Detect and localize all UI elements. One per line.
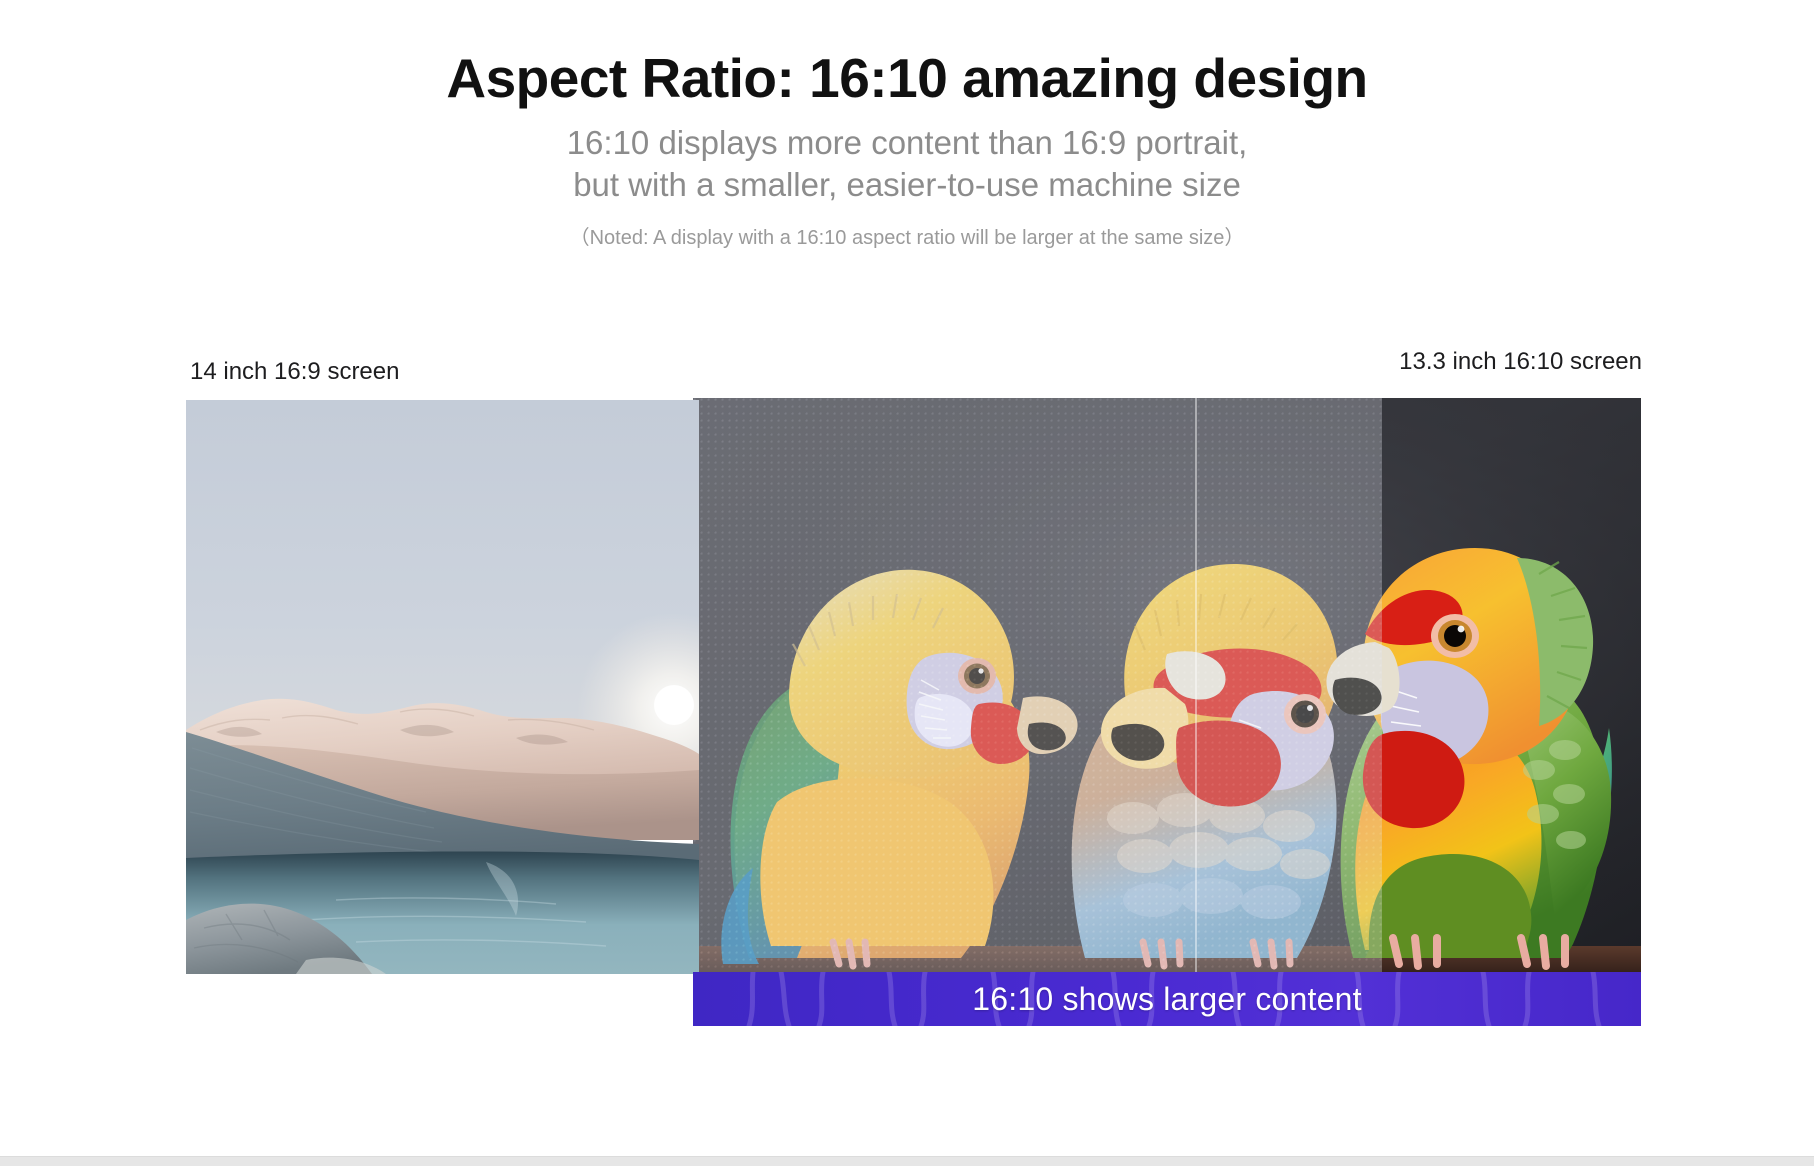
header: Aspect Ratio: 16:10 amazing design 16:10… (0, 0, 1814, 250)
page-root: Aspect Ratio: 16:10 amazing design 16:10… (0, 0, 1814, 1166)
bottom-scrollbar-strip[interactable] (0, 1156, 1814, 1166)
subtitle-line-2: but with a smaller, easier-to-use machin… (0, 164, 1814, 206)
label-16-9-screen: 14 inch 16:9 screen (190, 358, 399, 386)
caption-banner: 16:10 shows larger content (693, 972, 1641, 1026)
banner-text: 16:10 shows larger content (972, 981, 1361, 1018)
screen-comparison-stage: 16:10 shows larger content (186, 398, 1641, 1026)
screen-16-9-panel (186, 400, 699, 974)
parrots-image (693, 398, 1641, 974)
page-note: （Noted: A display with a 16:10 aspect ra… (0, 221, 1814, 250)
subtitle-line-1: 16:10 displays more content than 16:9 po… (0, 122, 1814, 164)
screen-16-10-panel (693, 398, 1641, 1026)
desert-lake-wallpaper-image (186, 400, 699, 974)
page-subtitle: 16:10 displays more content than 16:9 po… (0, 122, 1814, 206)
page-title: Aspect Ratio: 16:10 amazing design (0, 48, 1814, 110)
label-16-10-screen: 13.3 inch 16:10 screen (1399, 348, 1642, 376)
